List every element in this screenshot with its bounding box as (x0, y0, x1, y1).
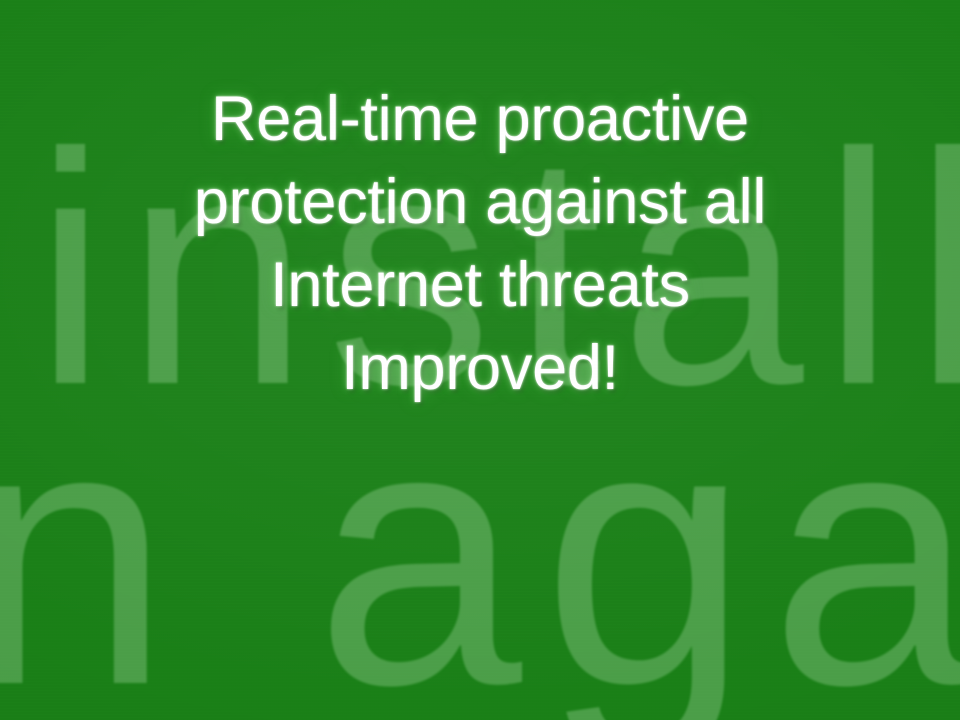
caption-block: Real-time proactive protection against a… (0, 78, 960, 410)
watermark-text-line-2: n aga (0, 368, 960, 720)
caption-line-4: Improved! (24, 327, 936, 410)
video-slide: install n aga Real-time proactive protec… (0, 0, 960, 720)
caption-line-3: Internet threats (24, 244, 936, 327)
caption-line-2: protection against all (24, 161, 936, 244)
caption-line-1: Real-time proactive (24, 78, 936, 161)
